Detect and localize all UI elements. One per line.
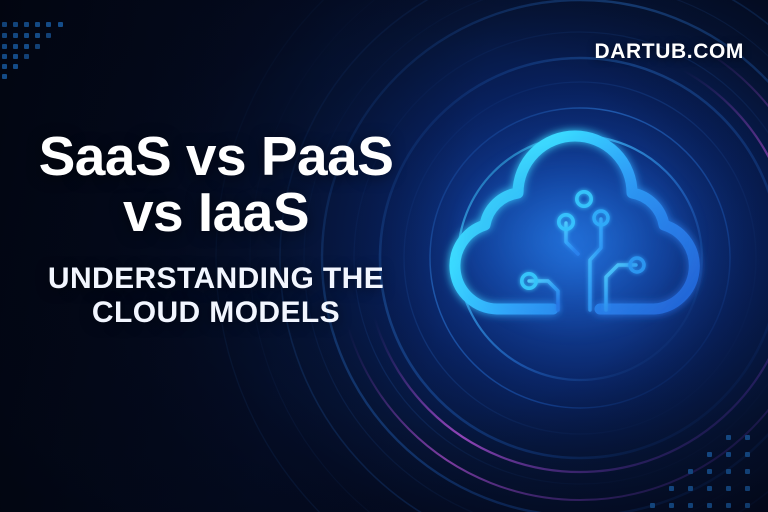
cloud-circuit-icon	[440, 120, 720, 400]
page-subtitle: UNDERSTANDING THE CLOUD MODELS	[0, 262, 432, 330]
subhead-line-1: UNDERSTANDING THE	[0, 262, 432, 296]
poster-canvas: DARTUB.COM SaaS vs PaaS vs IaaS UNDERSTA…	[0, 0, 768, 512]
page-title: SaaS vs PaaS vs IaaS	[0, 128, 432, 240]
title-block: SaaS vs PaaS vs IaaS UNDERSTANDING THE C…	[0, 128, 432, 331]
cloud-glow	[458, 138, 702, 338]
headline-line-2: vs IaaS	[0, 184, 432, 240]
subhead-line-2: CLOUD MODELS	[0, 296, 432, 330]
brand-wordmark: DARTUB.COM	[595, 40, 744, 64]
headline-line-1: SaaS vs PaaS	[39, 125, 394, 187]
